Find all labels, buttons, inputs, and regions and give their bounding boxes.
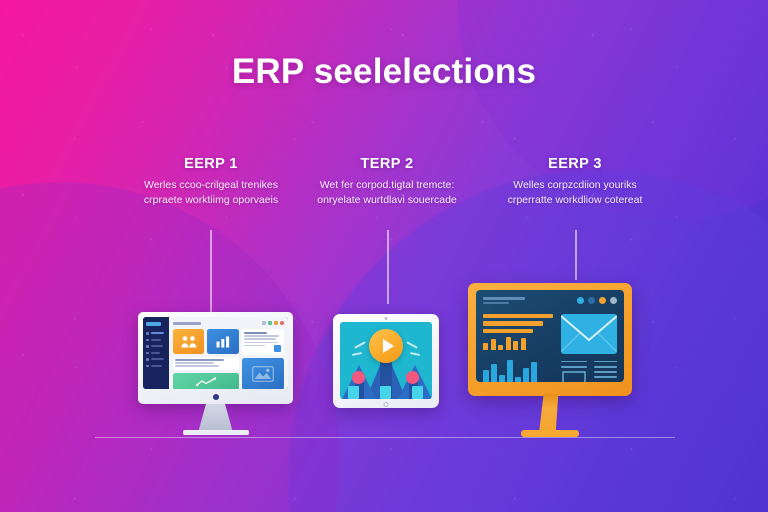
text-line (244, 342, 278, 344)
bullet-icon (146, 352, 149, 355)
text-line (244, 332, 267, 334)
chart-bar (491, 364, 497, 382)
chart-bar (515, 377, 521, 382)
card-actions (175, 369, 237, 370)
progress-bar (483, 314, 553, 319)
chart-icon (215, 335, 230, 348)
envelope-icon (561, 314, 617, 354)
sparkle-ray-right-2 (410, 352, 420, 356)
desktop-monitor-right (468, 283, 632, 439)
text-line (244, 345, 265, 347)
text-line (594, 366, 617, 368)
dashboard-card-media[interactable] (242, 358, 284, 389)
dashboard-grid-left (173, 329, 239, 389)
dashboard-card-info[interactable] (242, 329, 284, 355)
monitor-body (138, 312, 293, 404)
bullet-icon (146, 345, 149, 348)
column-3: EERP 3 Welles corpzcdiion youriks crperr… (480, 156, 670, 208)
nav-dot-2[interactable] (588, 297, 595, 304)
text-line (561, 366, 587, 368)
mini-bar (506, 337, 511, 350)
page-title: ERP seelelections (0, 52, 768, 92)
trend-icon (196, 377, 216, 387)
connector-line-1 (210, 230, 212, 312)
sparkle-ray-left-2 (352, 352, 362, 356)
sidebar-item-label (151, 358, 164, 360)
dashboard-card-blue[interactable] (207, 329, 238, 354)
dashboard-card-orange[interactable] (173, 329, 204, 354)
text-line (594, 361, 617, 363)
bullet-icon (146, 332, 149, 335)
monitor-stand-base (521, 430, 579, 437)
dashboard-card-green[interactable] (173, 373, 239, 389)
chart-bar (531, 362, 537, 382)
mini-bar (491, 339, 496, 350)
info-badge-icon (274, 345, 281, 352)
menu-icon[interactable] (262, 321, 266, 325)
avatar[interactable] (280, 321, 284, 325)
dashboard-card-text[interactable] (173, 357, 239, 370)
sparkle-ray-right (406, 341, 418, 348)
text-line (244, 335, 278, 337)
mini-bar (521, 338, 526, 350)
status-icon[interactable] (268, 321, 272, 325)
desktop-monitor-left (138, 312, 293, 439)
image-icon (252, 366, 274, 382)
home-button[interactable] (384, 402, 389, 407)
analytics-header (483, 297, 617, 307)
column-1-heading: EERP 1 (116, 156, 306, 172)
sparkle-ray-left (354, 341, 366, 348)
sidebar-item[interactable] (146, 365, 166, 368)
dashboard-main (169, 317, 288, 389)
bullet-icon (146, 365, 149, 368)
analytics-screen (476, 290, 624, 382)
monitor-screen (143, 317, 288, 389)
mini-bar-chart (483, 336, 553, 350)
nav-dot-3[interactable] (599, 297, 606, 304)
text-line (594, 371, 617, 373)
play-triangle-icon (383, 339, 394, 353)
nav-dot-4[interactable] (610, 297, 617, 304)
monitor-stand-neck (199, 404, 233, 431)
play-button[interactable] (369, 329, 403, 363)
column-1-body: Werles ccoo-crilgeal trenikes crpraete w… (116, 178, 306, 208)
sidebar-item-label (151, 365, 162, 367)
mini-bar (498, 345, 503, 350)
bullet-icon (146, 358, 149, 361)
text-line (483, 302, 509, 304)
block-right (412, 386, 423, 399)
progress-bar (483, 321, 543, 326)
text-line (244, 338, 275, 340)
dashboard-page-title (173, 322, 201, 325)
sidebar-item-label (151, 345, 163, 347)
text-line (175, 359, 224, 361)
bullet-icon (146, 339, 149, 342)
text-line (483, 297, 525, 300)
tablet-center (333, 314, 439, 408)
sidebar-item-label (151, 339, 161, 341)
block-left (348, 386, 359, 399)
chart-bar (507, 360, 513, 382)
dashboard-sidebar (143, 317, 169, 389)
dashboard-feature-cards (173, 329, 239, 354)
nav-dot-1[interactable] (577, 297, 584, 304)
dashboard-toolbar-icons (262, 321, 284, 325)
bell-icon[interactable] (274, 321, 278, 325)
mini-bar (483, 343, 488, 350)
column-2-body: Wet fer corpod.tigtal tremcte: onryelate… (292, 178, 482, 208)
sidebar-item[interactable] (146, 339, 166, 342)
analytics-nav-dots (577, 297, 617, 304)
infographic-canvas: ERP seelelections EERP 1 Werles ccoo-cri… (0, 0, 768, 512)
accent-dot-left (352, 371, 365, 384)
chart-bar (499, 375, 505, 382)
connector-line-3 (575, 230, 577, 280)
chart-bar (523, 368, 529, 382)
monitor-stand-neck (534, 394, 566, 432)
sidebar-item-label (151, 352, 160, 354)
connector-line-2 (387, 230, 389, 304)
bar-chart (483, 358, 553, 382)
people-icon (181, 335, 197, 349)
shield-wrapper (561, 371, 587, 382)
column-3-body: Welles corpzcdiion youriks crperratte wo… (480, 178, 670, 208)
column-1: EERP 1 Werles ccoo-crilgeal trenikes crp… (116, 156, 306, 208)
dashboard-topbar (173, 321, 284, 325)
shield-icon (561, 371, 587, 382)
mini-bar (513, 341, 518, 350)
sidebar-item[interactable] (146, 358, 166, 361)
text-line (175, 365, 219, 367)
analytics-sub-row (561, 361, 617, 383)
column-2: TERP 2 Wet fer corpod.tigtal tremcte: on… (292, 156, 482, 208)
sidebar-item[interactable] (146, 332, 166, 335)
tablet-screen (340, 322, 432, 399)
accent-dot-right (406, 371, 419, 384)
text-line (561, 361, 587, 363)
mail-card[interactable] (561, 314, 617, 354)
sidebar-item[interactable] (146, 352, 166, 355)
dashboard-card-grid (173, 329, 284, 389)
column-3-heading: EERP 3 (480, 156, 670, 172)
list-block (594, 361, 617, 383)
column-2-heading: TERP 2 (292, 156, 482, 172)
text-line (175, 362, 214, 364)
analytics-body (483, 314, 617, 383)
sidebar-item-label (151, 332, 164, 334)
block-center (380, 386, 391, 399)
progress-bar (483, 329, 533, 334)
analytics-left-panel (483, 314, 553, 383)
camera-icon (385, 317, 388, 320)
monitor-body-orange (468, 283, 632, 396)
monitor-chin-dot (213, 394, 219, 400)
analytics-title (483, 297, 525, 307)
monitor-stand-base (183, 430, 249, 435)
tablet-body (333, 314, 439, 408)
dashboard-logo-icon (146, 322, 161, 326)
chart-bar (483, 370, 489, 382)
text-line (594, 376, 617, 378)
download-block (561, 361, 587, 383)
dashboard-grid-right (242, 329, 284, 389)
sidebar-item[interactable] (146, 345, 166, 348)
analytics-right-panel (561, 314, 617, 383)
